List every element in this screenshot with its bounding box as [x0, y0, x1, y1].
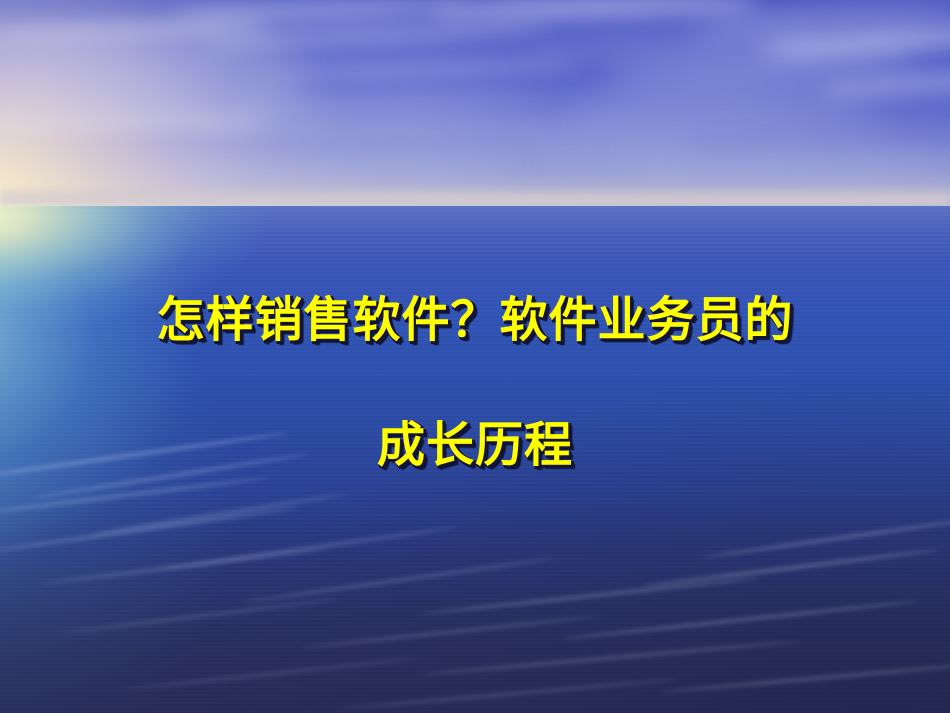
sky-deep-blue-wash — [0, 0, 950, 212]
presentation-slide: 怎样销售软件？软件业务员的 成长历程 — [0, 0, 950, 713]
slide-title-line-1: 怎样销售软件？软件业务员的 — [156, 296, 793, 344]
slide-title-line-2: 成长历程 — [377, 421, 573, 469]
sky-region — [0, 0, 950, 212]
